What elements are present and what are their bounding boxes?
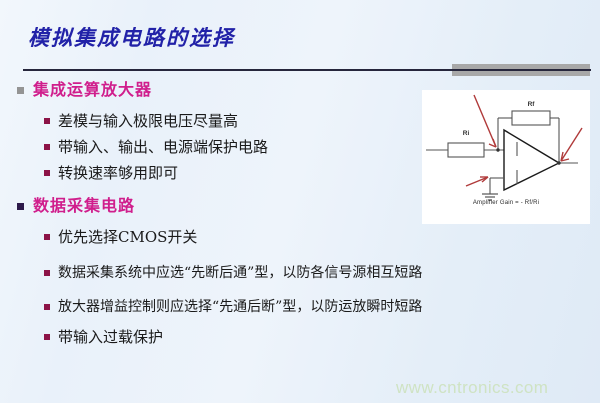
resistor-label-rf: Rf — [528, 101, 536, 108]
list-item-label: 转换速率够用即可 — [58, 160, 178, 186]
page-title: 模拟集成电路的选择 — [28, 22, 235, 52]
op-amp-circuit-figure: Ri Rf — [422, 90, 590, 224]
resistor-label-ri: Ri — [463, 130, 470, 137]
list-item-label: 优先选择CMOS开关 — [58, 224, 197, 250]
watermark: www.cntronics.com — [396, 378, 548, 398]
square-bullet-dark-icon — [17, 203, 24, 210]
figure-caption: Amplifier Gain = - Rf/Ri — [422, 200, 590, 206]
square-bullet-maroon-icon — [44, 304, 50, 310]
annotation-arrow-icon — [561, 128, 582, 161]
square-bullet-maroon-icon — [44, 170, 50, 176]
section-heading-label: 数据采集电路 — [33, 194, 135, 218]
list-item: 优先选择CMOS开关 — [0, 224, 600, 250]
list-item-label: 带输入、输出、电源端保护电路 — [58, 134, 268, 160]
square-bullet-maroon-icon — [44, 144, 50, 150]
list-item-label: 差模与输入极限电压尽量高 — [58, 108, 238, 134]
annotation-arrow-icon — [474, 95, 496, 147]
list-item-label: 带输入过载保护 — [58, 324, 163, 350]
square-bullet-maroon-icon — [44, 118, 50, 124]
annotation-arrow-icon — [466, 177, 488, 186]
section-heading-label: 集成运算放大器 — [33, 78, 152, 102]
square-bullet-gray-icon — [17, 87, 24, 94]
title-divider — [23, 69, 591, 71]
list-item-label: 数据采集系统中应选“先断后通”型，以防各信号源相互短路 — [58, 260, 422, 286]
list-item-label: 放大器增益控制则应选择“先通后断”型，以防运放瞬时短路 — [58, 294, 422, 320]
square-bullet-maroon-icon — [44, 334, 50, 340]
list-item: 带输入过载保护 — [0, 324, 600, 350]
list-item: 放大器增益控制则应选择“先通后断”型，以防运放瞬时短路 — [0, 294, 600, 320]
square-bullet-maroon-icon — [44, 270, 50, 276]
slide-canvas: 模拟集成电路的选择 集成运算放大器 差模与输入极限电压尽量高 带输入、输出、电源… — [0, 0, 600, 403]
square-bullet-maroon-icon — [44, 234, 50, 240]
list-item: 数据采集系统中应选“先断后通”型，以防各信号源相互短路 — [0, 260, 600, 286]
